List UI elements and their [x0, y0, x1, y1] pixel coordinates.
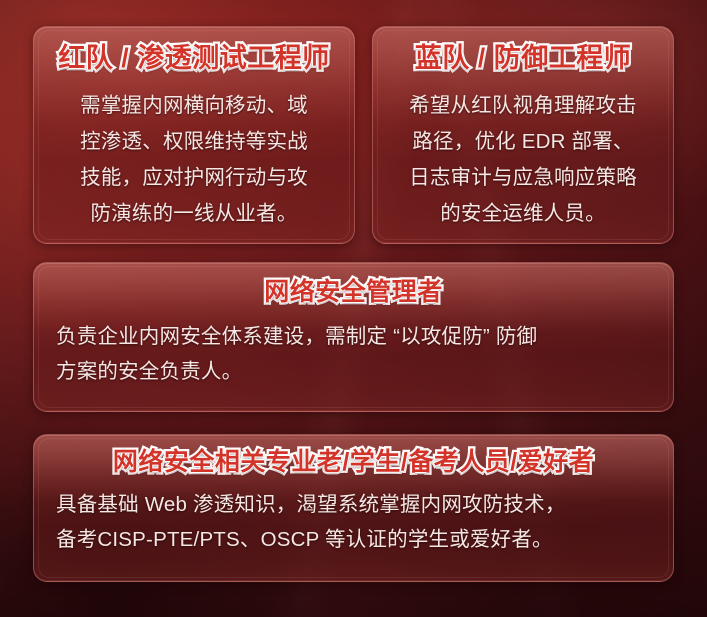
body-line: 负责企业内网安全体系建设，需制定 “以攻促防” 防御	[56, 319, 659, 354]
card-title-blue-team: 蓝队 / 防御工程师	[373, 44, 673, 74]
body-line: 日志审计与应急响应策略	[391, 160, 655, 196]
card-title-red-team: 红队 / 渗透测试工程师	[34, 44, 354, 74]
body-line: 的安全运维人员。	[391, 196, 655, 232]
card-body-red-team: 需掌握内网横向移动、域 控渗透、权限维持等实战 技能，应对护网行动与攻 防演练的…	[52, 88, 336, 232]
audience-card-blue-team: 蓝队 / 防御工程师 希望从红队视角理解攻击 路径，优化 EDR 部署、 日志审…	[372, 26, 674, 244]
body-line: 具备基础 Web 渗透知识，渴望系统掌握内网攻防技术，	[56, 487, 659, 522]
card-title-students-hobbyists: 网络安全相关专业老/学生/备考人员/爱好者	[34, 449, 673, 477]
body-line: 防演练的一线从业者。	[52, 196, 336, 232]
card-body-blue-team: 希望从红队视角理解攻击 路径，优化 EDR 部署、 日志审计与应急响应策略 的安…	[391, 88, 655, 232]
audience-card-students-hobbyists: 网络安全相关专业老/学生/备考人员/爱好者 具备基础 Web 渗透知识，渴望系统…	[33, 434, 674, 582]
audience-card-red-team: 红队 / 渗透测试工程师 需掌握内网横向移动、域 控渗透、权限维持等实战 技能，…	[33, 26, 355, 244]
body-line: 需掌握内网横向移动、域	[52, 88, 336, 124]
audience-card-security-manager: 网络安全管理者 负责企业内网安全体系建设，需制定 “以攻促防” 防御 方案的安全…	[33, 262, 674, 412]
body-line: 控渗透、权限维持等实战	[52, 124, 336, 160]
card-body-students-hobbyists: 具备基础 Web 渗透知识，渴望系统掌握内网攻防技术， 备考CISP-PTE/P…	[56, 487, 673, 557]
card-body-security-manager: 负责企业内网安全体系建设，需制定 “以攻促防” 防御 方案的安全负责人。	[56, 319, 673, 389]
body-line: 希望从红队视角理解攻击	[391, 88, 655, 124]
body-line: 路径，优化 EDR 部署、	[391, 124, 655, 160]
card-title-security-manager: 网络安全管理者	[34, 279, 673, 307]
body-line: 方案的安全负责人。	[56, 354, 659, 389]
body-line: 备考CISP-PTE/PTS、OSCP 等认证的学生或爱好者。	[56, 522, 659, 557]
body-line: 技能，应对护网行动与攻	[52, 160, 336, 196]
